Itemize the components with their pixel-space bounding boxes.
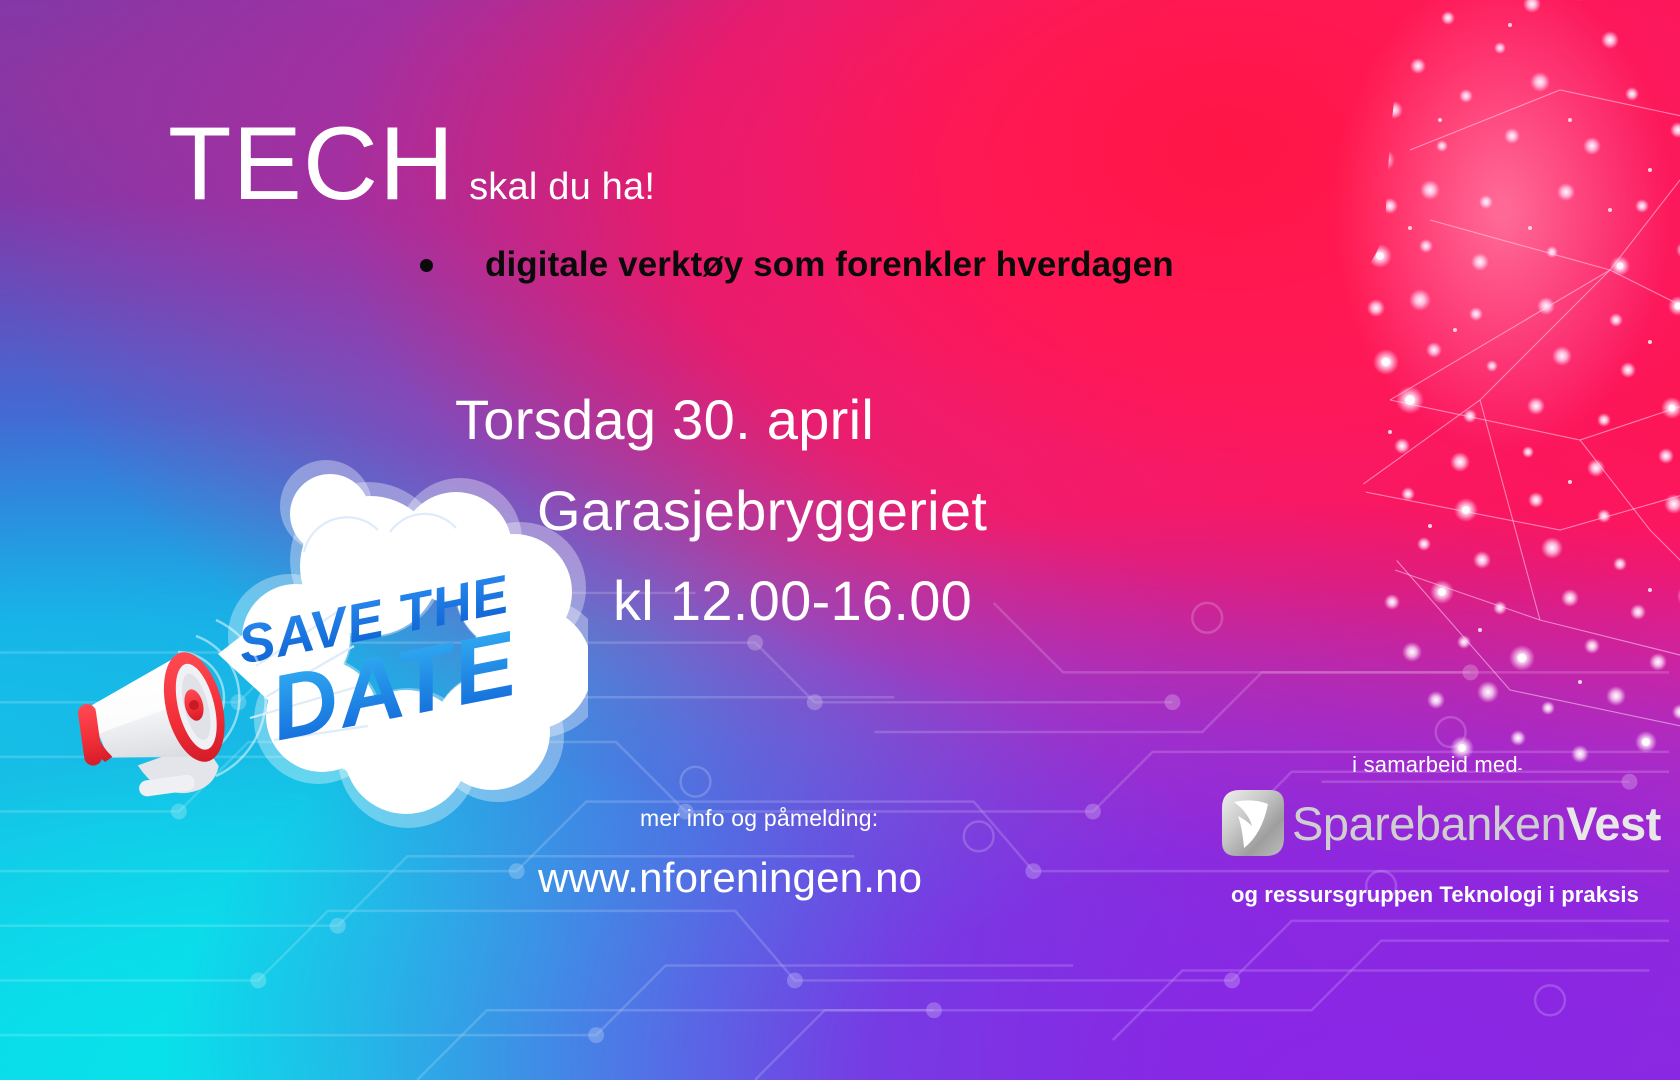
sponsor-block: i samarbeid med SparebankenVest og res	[1220, 752, 1650, 908]
headline-subtitle: skal du ha!	[469, 168, 655, 206]
sparebanken-vest-logo: SparebankenVest	[1220, 788, 1650, 858]
sponsor-intro-label: i samarbeid med	[1220, 752, 1650, 778]
logo-word-vest: Vest	[1566, 797, 1661, 850]
sponsor-outro-label: og ressursgruppen Teknologi i praksis	[1220, 882, 1650, 908]
headline-title: TECH	[168, 112, 455, 216]
headline-block: TECH skal du ha!	[168, 112, 655, 216]
bullet-point-icon	[420, 259, 433, 272]
headline-bullet-text: digitale verktøy som forenkler hverdagen	[485, 246, 1174, 285]
signup-label: mer info og påmelding:	[640, 805, 922, 832]
logo-word-sparebanken: Sparebanken	[1292, 797, 1566, 850]
headline-bullet-row: digitale verktøy som forenkler hverdagen	[420, 246, 1174, 285]
sparebanken-vest-wordmark: SparebankenVest	[1292, 800, 1661, 847]
website-url[interactable]: www.nforeningen.no	[538, 854, 922, 902]
poster-canvas: TECH skal du ha! digitale verktøy som fo…	[0, 0, 1680, 1080]
sparebanken-vest-logo-icon	[1220, 788, 1286, 858]
signup-info-block: mer info og påmelding: www.nforeningen.n…	[538, 805, 922, 902]
save-the-date-badge: SAVE THE DATE	[68, 440, 588, 840]
